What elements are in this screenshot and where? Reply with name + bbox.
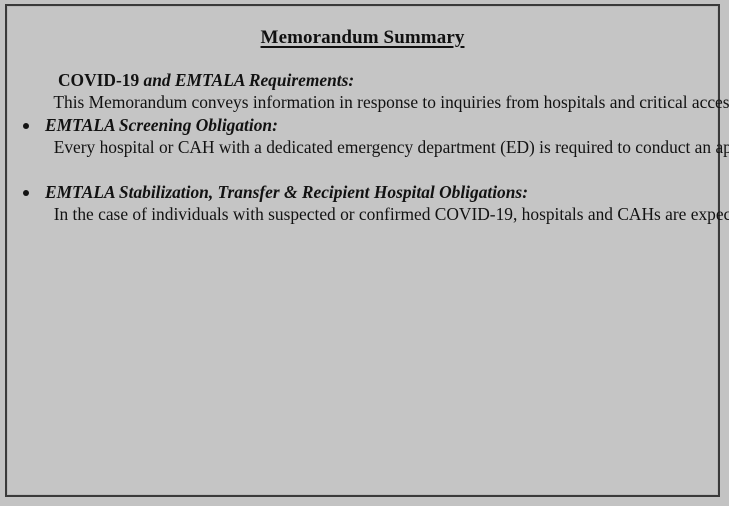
memorandum-body: COVID-19 and EMTALA Requirements: This M… [7, 69, 718, 226]
paragraph-lead-run-in-italic: and EMTALA Requirements: [139, 70, 354, 90]
bullet-item-stabilization-obligations-run-in: EMTALA Stabilization, Transfer & Recipie… [45, 182, 528, 202]
bullet-item-stabilization-obligations: EMTALA Stabilization, Transfer & Recipie… [17, 181, 694, 226]
paragraph-lead-run-in-upright: COVID-19 [58, 70, 139, 90]
paragraph-lead-body: This Memorandum conveys information in r… [45, 92, 729, 112]
bullet-item-screening-obligation-body: Every hospital or CAH with a dedicated e… [45, 137, 729, 157]
bullet-item-stabilization-obligations-body: In the case of individuals with suspecte… [45, 204, 729, 224]
paragraph-spacer [17, 159, 694, 181]
bullet-icon [23, 181, 37, 203]
paragraph-lead: COVID-19 and EMTALA Requirements: This M… [17, 69, 694, 114]
bullet-item-screening-obligation-run-in: EMTALA Screening Obligation: [45, 115, 278, 135]
memorandum-inner: Memorandum Summary COVID-19 and EMTALA R… [7, 6, 718, 495]
bullet-icon [23, 114, 37, 136]
page-title: Memorandum Summary [7, 6, 718, 49]
bullet-item-screening-obligation: EMTALA Screening Obligation: Every hospi… [17, 114, 694, 159]
page-title-text: Memorandum Summary [261, 27, 465, 48]
memorandum-frame: Memorandum Summary COVID-19 and EMTALA R… [5, 4, 720, 497]
